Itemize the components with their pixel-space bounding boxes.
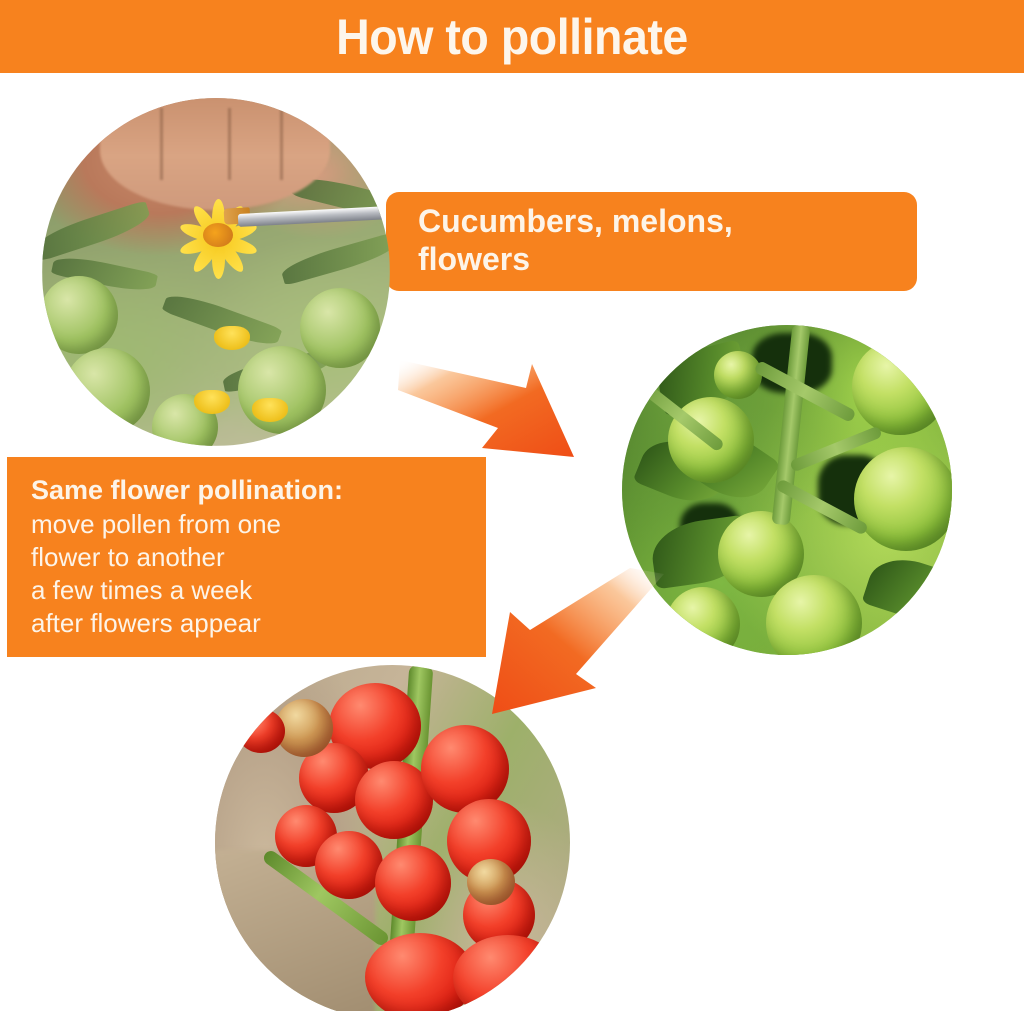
instruction-line-4: after flowers appear — [31, 607, 474, 640]
green-tomato-shape — [854, 447, 952, 551]
photo-content — [42, 98, 390, 446]
arrow-shape — [398, 360, 574, 457]
crop-label: Cucumbers, melons, flowers — [386, 192, 917, 291]
green-tomato-shape — [64, 348, 150, 434]
yellow-flower-shape — [170, 193, 266, 279]
yellow-flower-shape — [194, 390, 230, 414]
yellow-flower-shape — [214, 326, 250, 350]
finger-separator — [228, 108, 231, 180]
unripe-tomato-shape — [467, 859, 515, 905]
green-tomato-shape — [714, 351, 762, 399]
red-tomato-shape — [453, 935, 563, 1011]
red-tomato-shape — [315, 831, 383, 899]
arrow-to-green-tomatoes — [398, 352, 622, 480]
green-tomato-shape — [238, 346, 326, 434]
green-tomato-shape — [666, 587, 740, 655]
instruction-block: Same flower pollination: move pollen fro… — [7, 457, 486, 657]
arrow-to-red-tomatoes — [468, 568, 674, 744]
instruction-line-3: a few times a week — [31, 574, 474, 607]
instruction-line-1: move pollen from one — [31, 508, 474, 541]
instruction-line-2: flower to another — [31, 541, 474, 574]
crop-label-line-1: Cucumbers, melons, — [418, 202, 899, 240]
red-tomato-shape — [237, 709, 285, 753]
yellow-flower-shape — [252, 398, 288, 422]
red-tomato-shape — [375, 845, 451, 921]
crop-label-line-2: flowers — [418, 240, 899, 278]
pollination-infographic: How to pollinate — [0, 0, 1024, 1011]
finger-separator — [160, 108, 163, 180]
green-tomato-shape — [300, 288, 380, 368]
finger-separator — [280, 108, 283, 180]
green-tomato-shape — [852, 339, 948, 435]
green-tomato-shape — [42, 276, 118, 354]
flower-center — [203, 223, 233, 247]
hand-pollinating-flower-photo — [42, 98, 390, 446]
page-title: How to pollinate — [36, 0, 988, 73]
arrow-shape — [492, 568, 664, 714]
